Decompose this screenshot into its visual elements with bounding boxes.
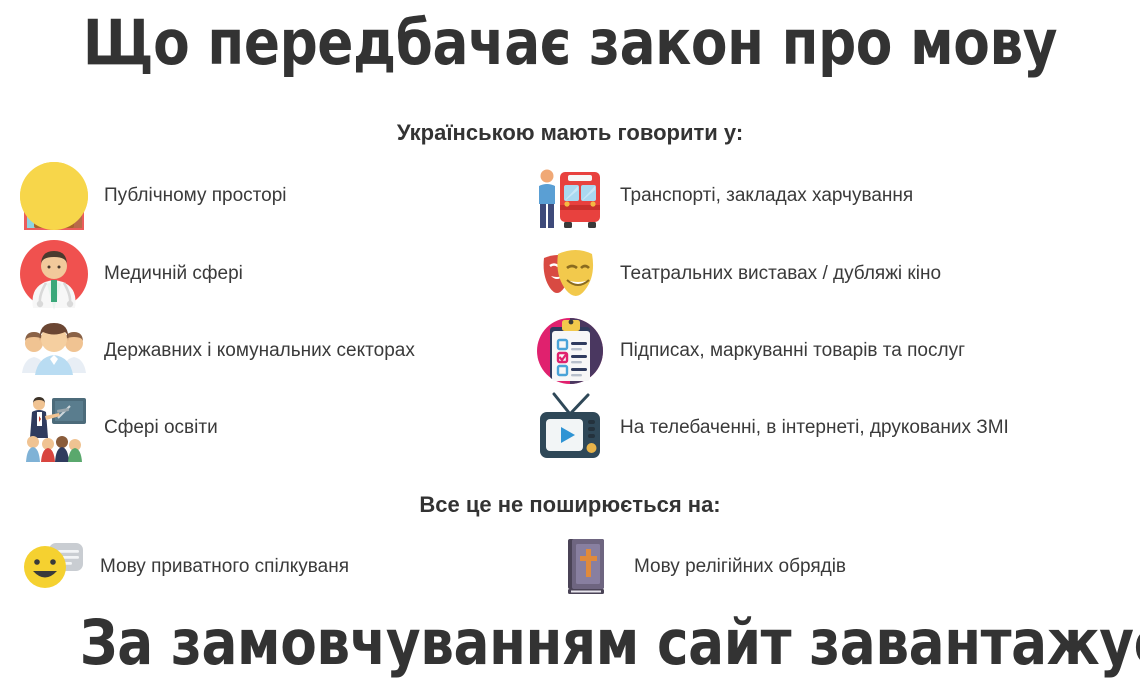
list-item-label: Мову приватного спілкуваня xyxy=(100,556,349,579)
list-item-label: Медичній сфері xyxy=(104,263,243,286)
list-item-label: Мову релігійних обрядів xyxy=(634,556,846,579)
doctor-icon xyxy=(18,238,90,310)
list-item-label: Сфері освіти xyxy=(104,417,218,440)
list-item-education: Сфері освіти xyxy=(18,392,218,464)
bible-icon xyxy=(556,535,620,599)
list-item-label: Державних і комунальних секторах xyxy=(104,340,415,363)
list-item-label: На телебаченні, в інтернеті, друкованих … xyxy=(620,417,1009,440)
list-item-label: Підписах, маркуванні товарів та послуг xyxy=(620,340,965,363)
list-item-transport: Транспорті, закладах харчування xyxy=(534,160,913,232)
list-item-media: На телебаченні, в інтернеті, друкованих … xyxy=(534,392,1009,464)
list-item-label: Публічному просторі xyxy=(104,185,287,208)
page-title: Що передбачає закон про мову xyxy=(80,12,1060,74)
list-item-government: Державних і комунальних секторах xyxy=(18,315,415,387)
retro-tv-icon xyxy=(534,392,606,464)
list-item-labelling: Підписах, маркуванні товарів та послуг xyxy=(534,315,965,387)
section-header-exceptions: Все це не поширюється на: xyxy=(0,492,1140,518)
teacher-classroom-icon xyxy=(18,392,90,464)
infographic-page: Що передбачає закон про мову Українською… xyxy=(0,0,1140,685)
bus-passenger-icon xyxy=(534,160,606,232)
page-footer-title: За замовчуванням сайт завантажується укр… xyxy=(80,612,1060,674)
people-group-icon xyxy=(18,315,90,387)
list-item-label: Транспорті, закладах харчування xyxy=(620,185,913,208)
list-item-private-speech: Мову приватного спілкуваня xyxy=(22,535,349,599)
list-item-theater: Театральних виставах / дубляжі кіно xyxy=(534,238,941,310)
clipboard-checklist-icon xyxy=(534,315,606,387)
list-item-label: Театральних виставах / дубляжі кіно xyxy=(620,263,941,286)
list-item-medical: Медичній сфері xyxy=(18,238,243,310)
list-item-religious-rites: Мову релігійних обрядів xyxy=(556,535,846,599)
section-header-must-speak: Українською мають говорити у: xyxy=(0,120,1140,146)
smiley-speech-icon xyxy=(22,535,86,599)
public-speaking-icon xyxy=(18,160,90,232)
theater-masks-icon xyxy=(534,238,606,310)
list-item-public-space: Публічному просторі xyxy=(18,160,287,232)
